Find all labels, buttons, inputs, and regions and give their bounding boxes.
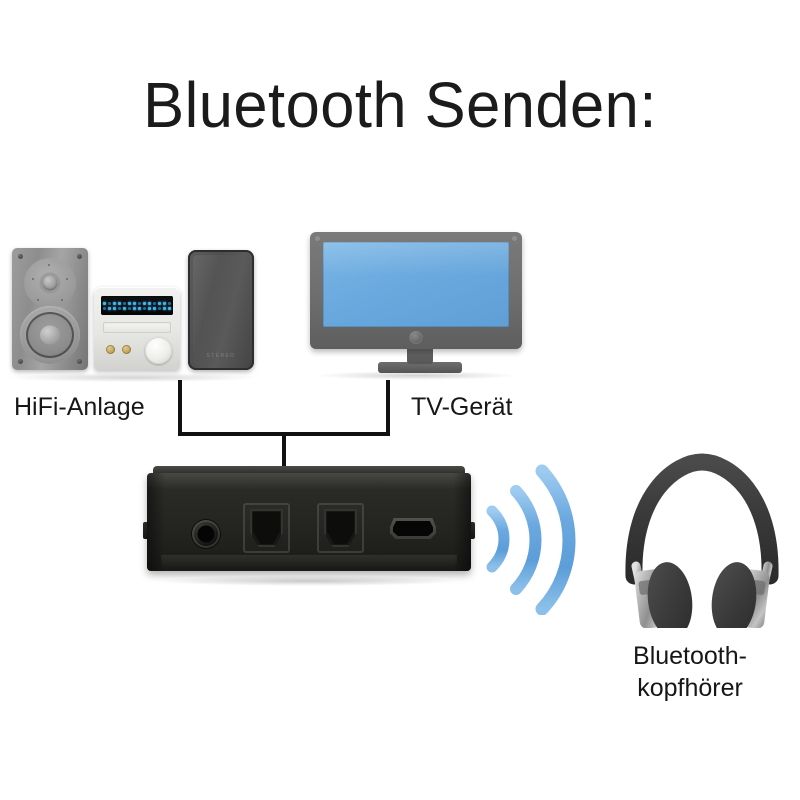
bluetooth-wave-arc-large (542, 471, 569, 609)
tv-corner-screw-icon (512, 236, 517, 241)
bluetooth-transmitter-device (143, 466, 475, 588)
led-dot-grid (103, 302, 171, 310)
bluetooth-wireless-waves (486, 455, 596, 615)
bluetooth-wave-arc-medium (516, 491, 536, 589)
headphone-headband (634, 462, 770, 576)
speaker-tweeter-plate (24, 258, 76, 308)
bluetooth-headphones-illustration (612, 448, 792, 628)
receiver-led-display (101, 296, 173, 315)
tv-screen (323, 242, 509, 327)
tweeter-dot-icon (37, 299, 39, 301)
transmitter-drop-shadow (161, 576, 457, 586)
transmitter-front-panel (147, 473, 471, 571)
tv-illustration (310, 232, 530, 380)
aux-3-5mm-jack-port (192, 520, 220, 548)
speaker-woofer-icon (20, 306, 80, 364)
headphone-left-earcup (634, 560, 697, 628)
tweeter-dot-icon (48, 264, 50, 266)
speaker-brand-text: STEREO (188, 353, 254, 359)
speaker-screw-icon (77, 254, 82, 259)
micro-usb-power-port (393, 521, 433, 536)
tv-corner-screw-icon (315, 236, 320, 241)
receiver-rca-jack-icon (106, 345, 115, 354)
label-hifi-anlage: HiFi-Anlage (14, 391, 145, 423)
hifi-receiver-unit (94, 287, 180, 370)
hifi-system-illustration: STEREO (8, 243, 258, 378)
optical-toslink-port-2 (317, 503, 364, 553)
toslink-aperture-icon (250, 509, 283, 547)
bluetooth-wave-arc-small (492, 511, 504, 567)
speaker-screw-icon (18, 254, 23, 259)
tweeter-dot-icon (66, 278, 68, 280)
hifi-right-speaker-icon: STEREO (188, 250, 254, 370)
wired-connection-bracket (178, 380, 390, 475)
hifi-left-speaker-icon (12, 248, 88, 370)
transmitter-right-bevel (453, 473, 471, 571)
page-title: Bluetooth Senden: (16, 72, 784, 139)
speaker-screw-icon (77, 359, 82, 364)
tv-power-button-icon (410, 331, 423, 344)
label-line-1: Bluetooth- (580, 640, 800, 672)
headphone-right-earcup (708, 560, 771, 628)
tweeter-dot-icon (61, 299, 63, 301)
connector-line-from-hifi (178, 380, 182, 436)
label-bluetooth-kopfhoerer: Bluetooth- kopfhörer (580, 640, 800, 704)
transmitter-left-bevel (147, 473, 165, 571)
transmitter-bottom-edge (161, 555, 457, 567)
tweeter-dot-icon (32, 278, 34, 280)
speaker-tweeter-icon (43, 276, 58, 291)
receiver-volume-knob (145, 337, 172, 364)
receiver-rca-jack-icon (122, 345, 131, 354)
label-tv-geraet: TV-Gerät (411, 391, 512, 423)
speaker-dust-cap (40, 326, 60, 345)
connector-line-from-tv (386, 380, 390, 436)
speaker-screw-icon (18, 359, 23, 364)
diagram-canvas: Bluetooth Senden: (0, 0, 800, 800)
toslink-aperture-icon (324, 509, 357, 547)
tv-body-bezel (310, 232, 522, 349)
optical-toslink-port-1 (243, 503, 290, 553)
label-line-2: kopfhörer (580, 672, 800, 704)
receiver-cd-slot (103, 322, 171, 333)
